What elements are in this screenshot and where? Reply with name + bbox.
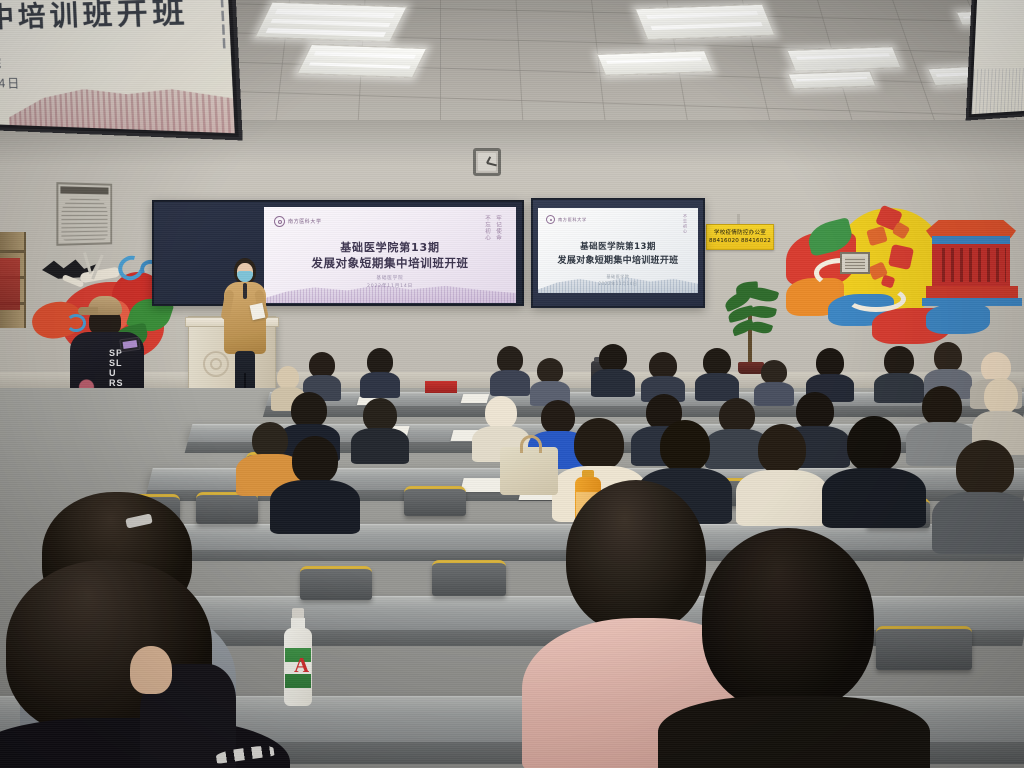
microphone-icon	[243, 283, 247, 299]
tiananmen-sunrise-mural	[786, 198, 1024, 350]
covid-office-sign: 学校疫情防控办公室 88416020 88416022	[706, 224, 774, 250]
audience-member	[358, 398, 402, 460]
main-display-wall: 南方医科大学 不忘初心 牢记使命 基础医学院第13期 发展对象短期集中培训班开班…	[152, 200, 524, 306]
audience-member	[534, 358, 566, 404]
framed-notice	[56, 182, 112, 246]
audience-member	[750, 424, 814, 520]
university-logo-secondary: 南方医科大学	[546, 215, 587, 224]
chair	[404, 486, 466, 516]
audience-member	[494, 346, 526, 394]
slide-motto-2: 牢记使命	[494, 215, 502, 241]
ceiling-light	[254, 2, 407, 43]
projector-left-vertical-marks	[209, 0, 226, 52]
audience-member	[364, 348, 396, 396]
jacket-text-line3: U	[109, 368, 124, 378]
ceiling-light	[596, 50, 713, 76]
university-seal-icon	[274, 216, 285, 227]
projector-screen-top-right	[966, 0, 1024, 121]
secondary-slide-vertical-marks: 不忘初心	[682, 214, 688, 234]
slide-heading-line1: 基础医学院第13期	[264, 239, 516, 255]
main-presentation-slide: 南方医科大学 不忘初心 牢记使命 基础医学院第13期 发展对象短期集中培训班开班…	[264, 207, 516, 303]
projector-left-subtitle-2: 月14日	[0, 74, 22, 92]
chair	[432, 560, 506, 596]
ceiling-light	[786, 46, 901, 72]
wall-display-box	[840, 252, 870, 274]
slide-heading-line2: 发展对象短期集中培训班开班	[264, 255, 516, 271]
audience-member	[646, 352, 680, 400]
ceiling-light	[787, 71, 876, 90]
smartphone-icon	[119, 337, 141, 353]
ceiling-light	[634, 4, 775, 41]
red-wall-board	[0, 258, 20, 310]
projector-left-subtitle-1: 学院	[0, 54, 3, 71]
jacket-text: SP SL U RS	[109, 348, 124, 388]
university-logo: 南方医科大学	[274, 216, 322, 227]
jacket-text-line2: SL	[109, 358, 124, 368]
audience-member	[596, 344, 630, 394]
projector-left-building-graphic	[8, 76, 235, 133]
wall-clock-icon	[473, 148, 501, 176]
slide-motto-1: 不忘初心	[682, 214, 688, 234]
lecture-hall-photo: 中培训班开班 学院 月14日	[0, 0, 1024, 768]
projector-right-building-graphic	[972, 67, 1024, 115]
baseball-cap-icon	[88, 296, 122, 315]
secondary-display: 南方医科大学 不忘初心 基础医学院第13期 发展对象短期集中培训班开班 基础医学…	[531, 198, 705, 308]
hand	[130, 646, 172, 694]
slide-vertical-motto: 不忘初心 牢记使命	[483, 215, 502, 241]
covid-office-sign-title: 学校疫情防控办公室	[714, 230, 766, 236]
slide-motto-1: 不忘初心	[483, 215, 491, 241]
red-item-on-desk	[425, 381, 457, 393]
university-name-secondary: 南方医科大学	[558, 217, 587, 223]
slide-footer-line1: 基础医学院	[264, 275, 516, 281]
ceiling-light	[297, 44, 428, 78]
jacket-text-line4: RS	[109, 378, 124, 388]
paper-sheet	[460, 478, 503, 492]
bottle-label-letter: A	[294, 655, 309, 676]
foreground-audience-member	[0, 560, 280, 768]
projector-screen-top-left: 中培训班开班 学院 月14日	[0, 0, 243, 140]
audience-member	[700, 348, 734, 398]
university-name: 南方医科大学	[288, 218, 322, 225]
secondary-heading-line2: 发展对象短期集中培训班开班	[538, 253, 698, 266]
ad-calcium-milk-bottle: A	[283, 608, 313, 706]
secondary-heading-line1: 基础医学院第13期	[538, 240, 698, 252]
audience-member	[284, 436, 346, 528]
university-seal-icon	[546, 215, 555, 224]
chair	[300, 566, 372, 600]
presenter-papers	[250, 303, 266, 320]
audience-member	[880, 346, 918, 400]
audience-member	[758, 360, 790, 404]
covid-office-sign-phones: 88416020 88416022	[709, 238, 771, 244]
audience-member	[838, 416, 910, 520]
projector-left-title: 中培训班开班	[0, 0, 220, 35]
foreground-audience-member	[672, 528, 912, 768]
secondary-presentation-slide: 南方医科大学 不忘初心 基础医学院第13期 发展对象短期集中培训班开班 基础医学…	[538, 208, 698, 293]
audience-member	[946, 440, 1024, 550]
